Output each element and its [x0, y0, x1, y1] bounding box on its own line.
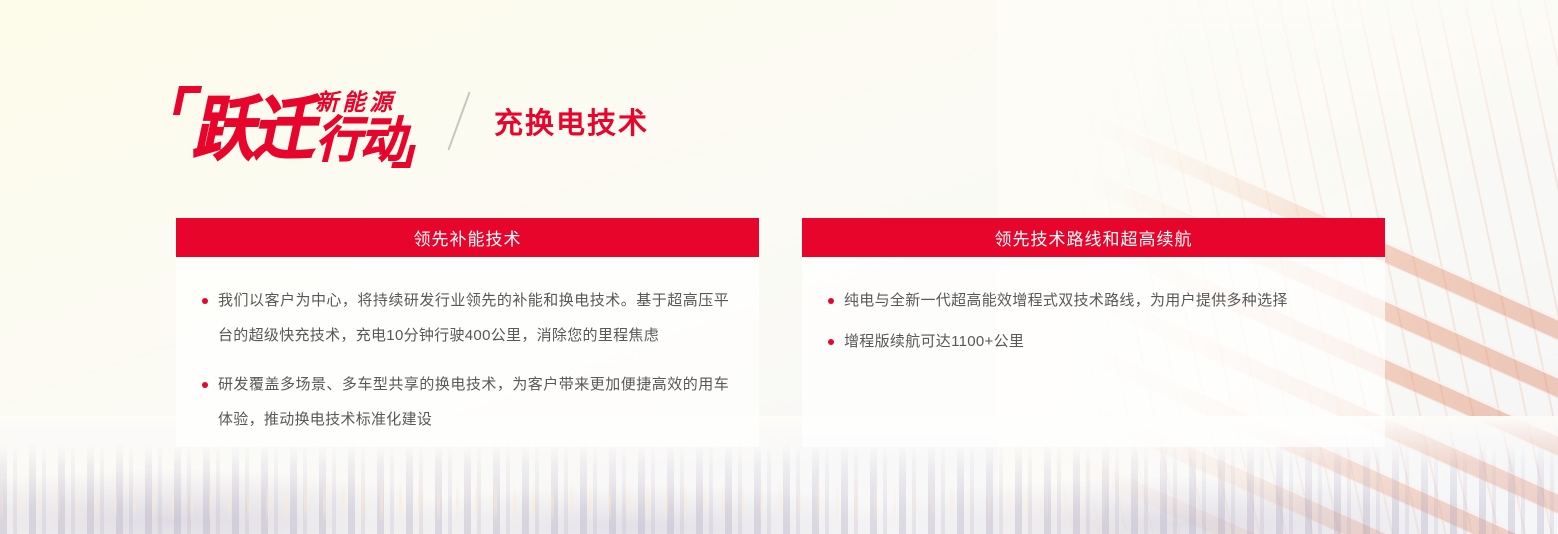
- skyline-lights: [0, 476, 1558, 520]
- yueqian-action-logo: 跃迁 新能源 行动: [176, 78, 402, 164]
- logo-close-bracket-icon: [391, 145, 416, 168]
- promo-banner: 跃迁 新能源 行动 充换电技术 领先补能技术 我们以客户为中心，将持续研发行业领…: [0, 0, 1558, 534]
- card-title: 领先补能技术: [414, 225, 522, 250]
- list-item: 纯电与全新一代超高能效增程式双技术路线，为用户提供多种选择: [822, 283, 1355, 318]
- card-body: 我们以客户为中心，将持续研发行业领先的补能和换电技术。基于超高压平台的超级快充技…: [176, 257, 759, 447]
- banner-header: 跃迁 新能源 行动 充换电技术: [176, 78, 649, 164]
- canopy-slat: [998, 437, 1558, 534]
- logo-open-bracket-icon: [173, 86, 202, 115]
- bullet-list: 我们以客户为中心，将持续研发行业领先的补能和换电技术。基于超高压平台的超级快充技…: [196, 283, 729, 437]
- logo-text-stack: 新能源 行动: [314, 80, 402, 164]
- skyline-towers: [0, 442, 1558, 534]
- list-item: 研发覆盖多场景、多车型共享的换电技术，为客户带来更加便捷高效的用车体验，推动换电…: [196, 367, 729, 437]
- list-item: 增程版续航可达1100+公里: [822, 324, 1355, 359]
- bullet-list: 纯电与全新一代超高能效增程式双技术路线，为用户提供多种选择 增程版续航可达110…: [822, 283, 1355, 359]
- card-leading-tech-route-and-range: 领先技术路线和超高续航 纯电与全新一代超高能效增程式双技术路线，为用户提供多种选…: [802, 218, 1385, 447]
- card-leading-charging-technology: 领先补能技术 我们以客户为中心，将持续研发行业领先的补能和换电技术。基于超高压平…: [176, 218, 759, 447]
- card-header: 领先技术路线和超高续航: [802, 218, 1385, 257]
- feature-card-list: 领先补能技术 我们以客户为中心，将持续研发行业领先的补能和换电技术。基于超高压平…: [176, 218, 1385, 447]
- list-item: 我们以客户为中心，将持续研发行业领先的补能和换电技术。基于超高压平台的超级快充技…: [196, 283, 729, 353]
- logo-main-text: 跃迁: [190, 95, 325, 164]
- card-header: 领先补能技术: [176, 218, 759, 257]
- page-title: 充换电技术: [494, 100, 649, 142]
- slash-divider-icon: [447, 92, 470, 151]
- card-title: 领先技术路线和超高续航: [995, 225, 1193, 250]
- card-body: 纯电与全新一代超高能效增程式双技术路线，为用户提供多种选择 增程版续航可达110…: [802, 257, 1385, 447]
